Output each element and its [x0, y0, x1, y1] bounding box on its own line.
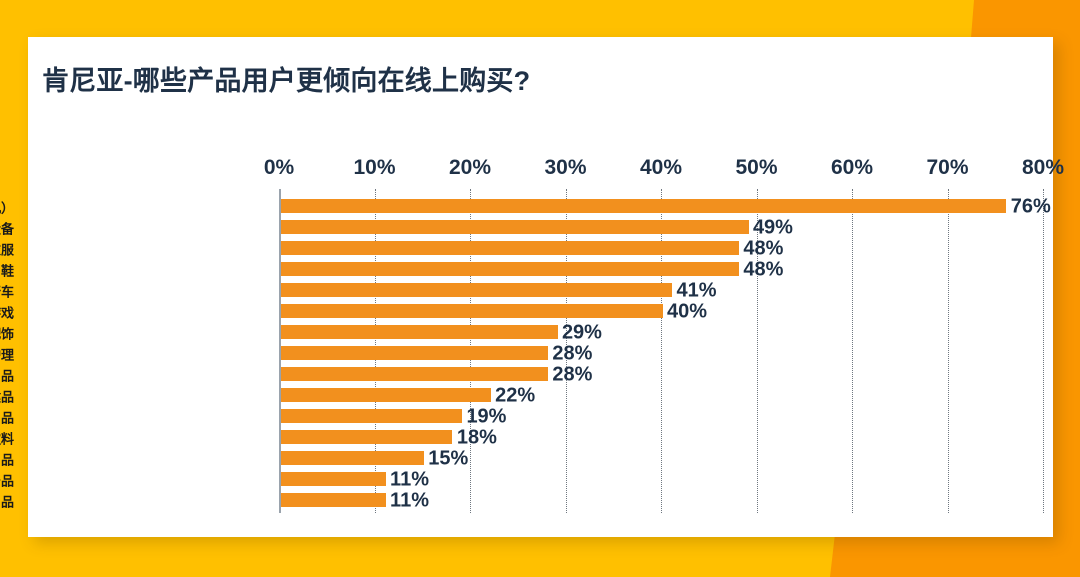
- bar: [281, 409, 462, 423]
- bar-value-label: 48%: [743, 258, 783, 281]
- bar-value-label: 18%: [457, 426, 497, 449]
- bar-value-label: 11%: [390, 468, 429, 491]
- bar-value-label: 28%: [552, 342, 592, 365]
- category-label: 食品和饮料: [0, 428, 14, 447]
- bar-row: 书籍、电影、音乐和游戏40%: [279, 301, 1043, 322]
- bar-row: 包袋及配饰29%: [279, 322, 1043, 343]
- x-tick-label: 40%: [640, 156, 682, 180]
- bar-chart-plot-area: 消费电子产品（例如电视、智能手机）76%家用设备49%衣服48%鞋48%汽车、摩…: [279, 196, 1043, 512]
- bar-value-label: 11%: [390, 489, 429, 512]
- category-label: 家具和家居用品: [0, 365, 14, 384]
- bar-row: 家具和家居用品28%: [279, 364, 1043, 385]
- bar-value-label: 48%: [743, 237, 783, 260]
- bar-value-label: 29%: [562, 321, 602, 344]
- x-tick-label: 60%: [831, 156, 873, 180]
- bar-row: 家用设备49%: [279, 217, 1043, 238]
- bar: [281, 283, 673, 297]
- category-label: 化妆品和身体护理: [0, 344, 14, 363]
- bar-row: 玩具和婴儿用品15%: [279, 448, 1043, 469]
- x-tick-label: 70%: [926, 156, 968, 180]
- x-tick-label: 20%: [449, 156, 491, 180]
- category-label: 文具和爱好用品: [0, 491, 14, 510]
- bar: [281, 304, 663, 318]
- chart-title: 肯尼亚-哪些产品用户更倾向在线上购买?: [42, 59, 530, 98]
- bar-value-label: 49%: [753, 216, 793, 239]
- category-label: 鞋: [1, 260, 14, 279]
- bar-row: 食品和饮料18%: [279, 427, 1043, 448]
- slide-canvas: 肯尼亚-哪些产品用户更倾向在线上购买? 0%10%20%30%40%50%60%…: [0, 0, 1080, 577]
- bar-value-label: 22%: [495, 384, 535, 407]
- category-label: 消费电子产品（例如电视、智能手机）: [0, 197, 14, 216]
- category-label: DIY和园艺产品: [0, 470, 14, 489]
- category-label: 运动及户外用品: [0, 407, 14, 426]
- bar-value-label: 28%: [552, 363, 592, 386]
- bar-value-label: 19%: [466, 405, 506, 428]
- category-label: 包袋及配饰: [0, 323, 14, 342]
- category-label: 玩具和婴儿用品: [0, 449, 14, 468]
- x-tick-label: 0%: [264, 156, 294, 180]
- bar: [281, 220, 749, 234]
- x-tick-label: 10%: [353, 156, 395, 180]
- bar: [281, 325, 558, 339]
- bar-value-label: 41%: [677, 279, 717, 302]
- bar-row: 衣服48%: [279, 238, 1043, 259]
- bar-row: 鞋48%: [279, 259, 1043, 280]
- x-tick-label: 30%: [544, 156, 586, 180]
- bar-row: DIY和园艺产品11%: [279, 469, 1043, 490]
- bar-row: 药店和保健品22%: [279, 385, 1043, 406]
- bar: [281, 262, 739, 276]
- chart-card: 肯尼亚-哪些产品用户更倾向在线上购买? 0%10%20%30%40%50%60%…: [28, 37, 1053, 537]
- bar: [281, 430, 453, 444]
- bar: [281, 451, 424, 465]
- bar: [281, 199, 1007, 213]
- bar-row: 汽车、摩托车、自行车41%: [279, 280, 1043, 301]
- x-tick-label: 50%: [735, 156, 777, 180]
- bar: [281, 472, 386, 486]
- category-label: 汽车、摩托车、自行车: [0, 281, 14, 300]
- category-label: 家用设备: [0, 218, 14, 237]
- bar: [281, 493, 386, 507]
- bar-row: 文具和爱好用品11%: [279, 490, 1043, 511]
- gridline: [1043, 189, 1044, 513]
- bar-value-label: 76%: [1011, 195, 1051, 218]
- bar-value-label: 15%: [428, 447, 468, 470]
- bar: [281, 346, 548, 360]
- bar-row: 化妆品和身体护理28%: [279, 343, 1043, 364]
- bar-row: 运动及户外用品19%: [279, 406, 1043, 427]
- bar: [281, 241, 739, 255]
- category-label: 书籍、电影、音乐和游戏: [0, 302, 14, 321]
- bar-value-label: 40%: [667, 300, 707, 323]
- category-label: 衣服: [0, 239, 14, 258]
- bar-row: 消费电子产品（例如电视、智能手机）76%: [279, 196, 1043, 217]
- bar: [281, 388, 491, 402]
- bar: [281, 367, 548, 381]
- category-label: 药店和保健品: [0, 386, 14, 405]
- x-tick-label: 80%: [1022, 156, 1064, 180]
